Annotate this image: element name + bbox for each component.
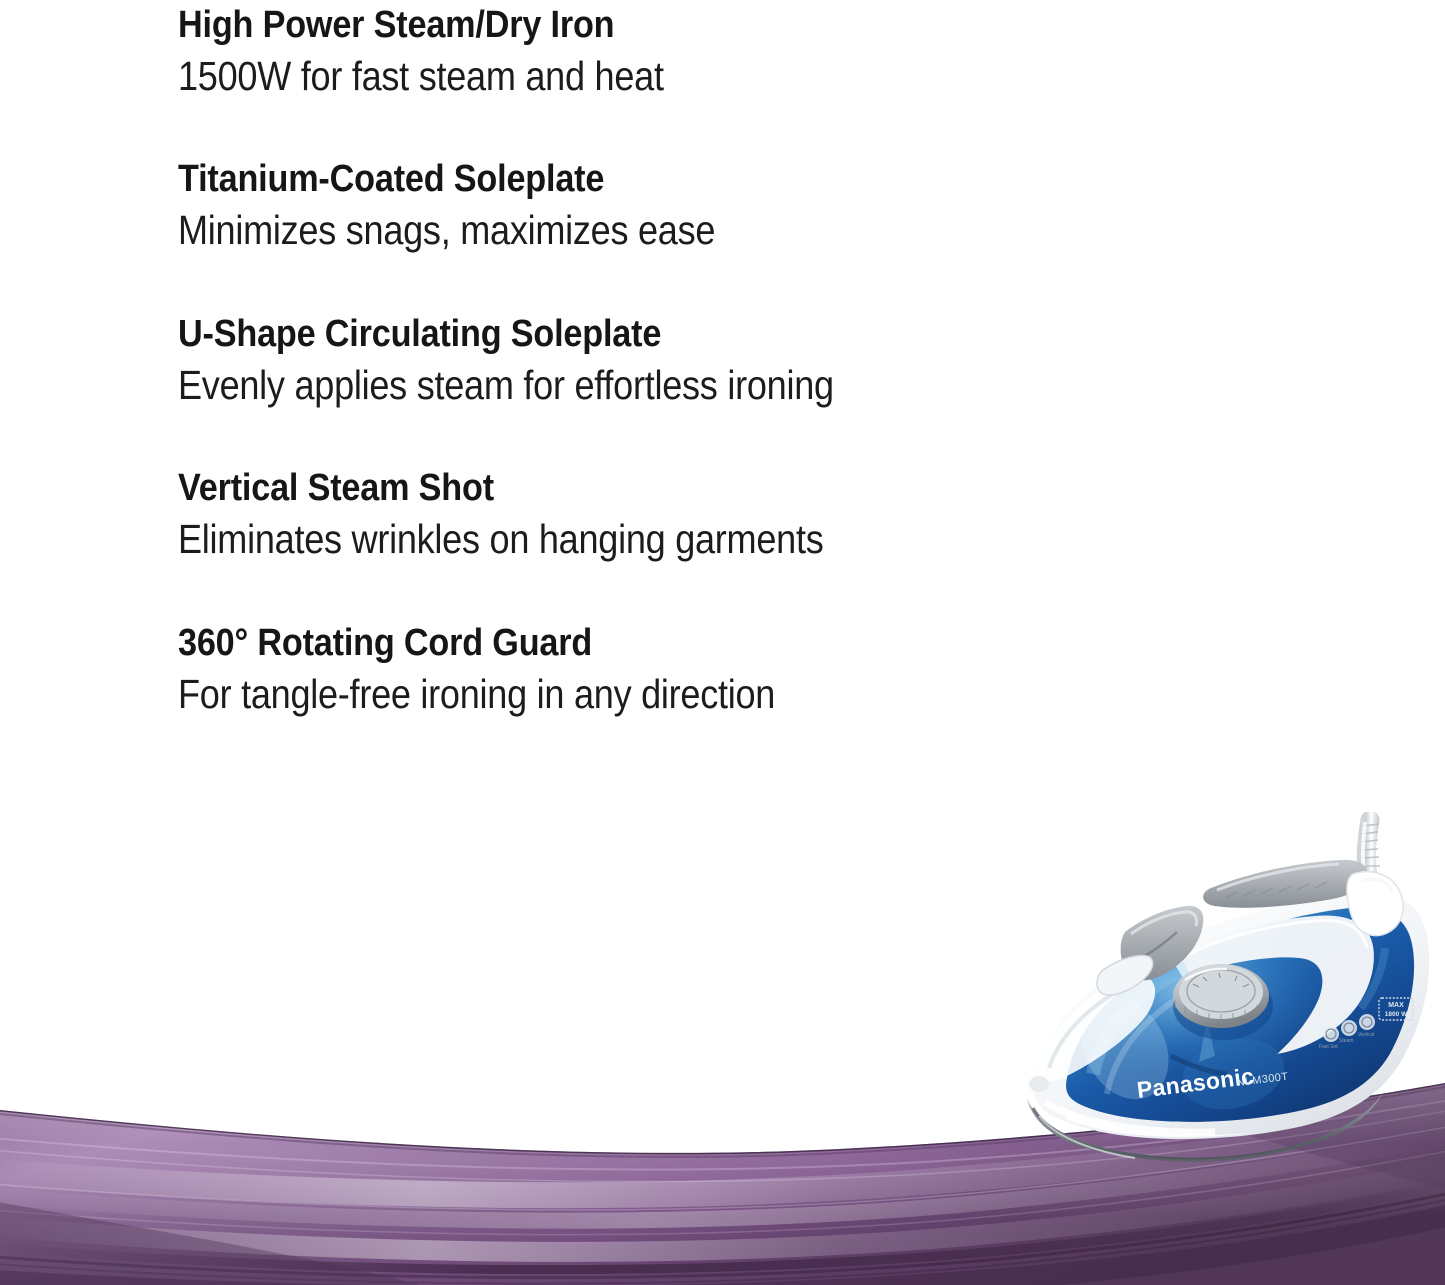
- feature-item: Vertical Steam Shot Eliminates wrinkles …: [178, 467, 1218, 563]
- feature-item: 360° Rotating Cord Guard For tangle-free…: [178, 622, 1218, 718]
- feature-subtitle: 1500W for fast steam and heat: [178, 53, 1093, 101]
- dial-face: [1179, 965, 1263, 1019]
- feature-title: 360° Rotating Cord Guard: [178, 622, 1114, 665]
- product-feature-banner: High Power Steam/Dry Iron 1500W for fast…: [0, 0, 1445, 1285]
- feature-title: Vertical Steam Shot: [178, 467, 1114, 510]
- product-image-steam-iron: Fast Set Steam Vertical MAX 1800 W Panas…: [975, 812, 1445, 1212]
- feature-subtitle: Minimizes snags, maximizes ease: [178, 207, 1093, 255]
- max-badge-label: MAX: [1388, 1002, 1404, 1009]
- feature-title: U-Shape Circulating Soleplate: [178, 313, 1114, 356]
- svg-text:Steam: Steam: [1339, 1038, 1353, 1044]
- feature-subtitle: Evenly applies steam for effortless iron…: [178, 362, 1093, 410]
- feature-item: Titanium-Coated Soleplate Minimizes snag…: [178, 158, 1218, 254]
- spray-nozzle: [1029, 1076, 1049, 1092]
- svg-text:Vertical: Vertical: [1358, 1032, 1374, 1038]
- feature-item: High Power Steam/Dry Iron 1500W for fast…: [178, 4, 1218, 100]
- feature-title: High Power Steam/Dry Iron: [178, 4, 1114, 47]
- feature-subtitle: Eliminates wrinkles on hanging garments: [178, 516, 1093, 564]
- svg-text:Fast Set: Fast Set: [1319, 1044, 1338, 1050]
- feature-item: U-Shape Circulating Soleplate Evenly app…: [178, 313, 1218, 409]
- feature-subtitle: For tangle-free ironing in any direction: [178, 671, 1093, 719]
- steam-iron-svg: Fast Set Steam Vertical MAX 1800 W Panas…: [975, 812, 1445, 1212]
- feature-list: High Power Steam/Dry Iron 1500W for fast…: [178, 4, 1218, 718]
- max-badge-value: 1800 W: [1385, 1011, 1408, 1018]
- feature-title: Titanium-Coated Soleplate: [178, 158, 1114, 201]
